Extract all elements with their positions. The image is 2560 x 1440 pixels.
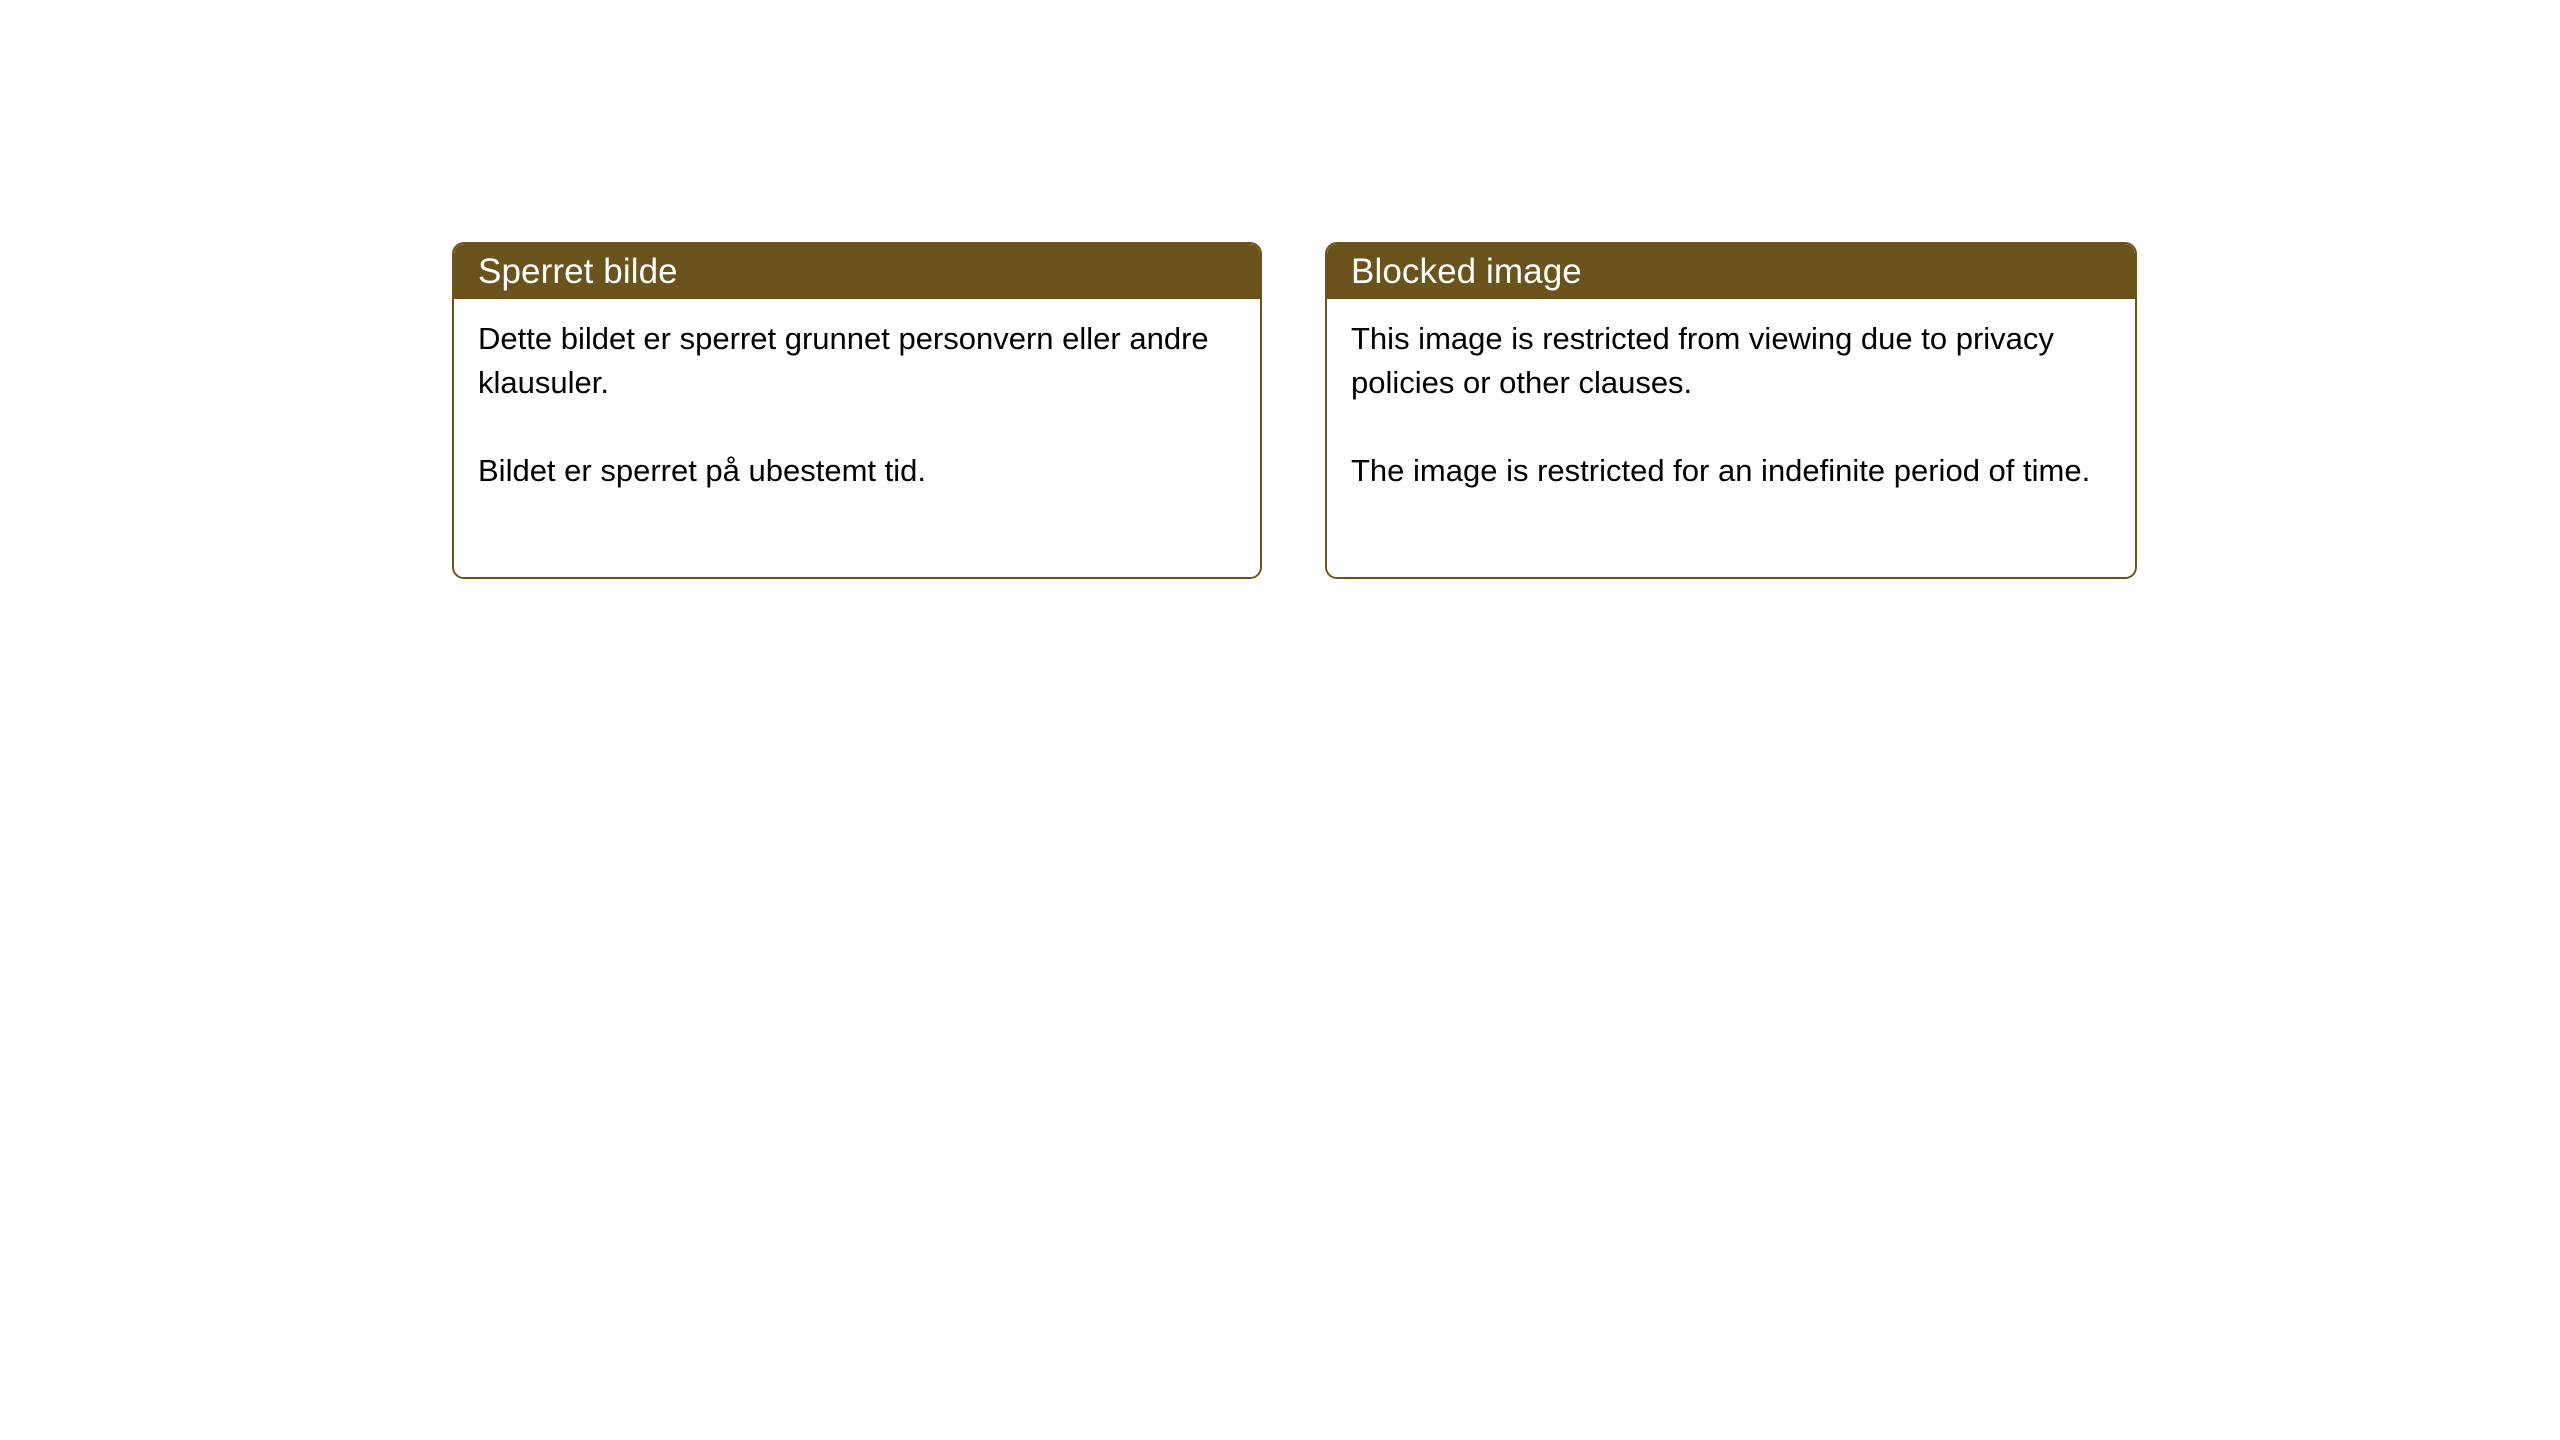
- card-body-no: Dette bildet er sperret grunnet personve…: [454, 299, 1260, 577]
- card-body-en: This image is restricted from viewing du…: [1327, 299, 2135, 577]
- card-title-no: Sperret bilde: [478, 252, 678, 292]
- card-title-en: Blocked image: [1351, 252, 1582, 292]
- blocked-image-notice-card-no: Sperret bilde Dette bildet er sperret gr…: [452, 242, 1262, 579]
- page-root: Sperret bilde Dette bildet er sperret gr…: [0, 0, 2560, 1440]
- paragraph-spacer-no: [478, 405, 1238, 449]
- card-paragraph-en-2: The image is restricted for an indefinit…: [1351, 449, 2113, 493]
- notice-cards-row: Sperret bilde Dette bildet er sperret gr…: [452, 242, 2137, 579]
- card-header-en: Blocked image: [1327, 244, 2135, 299]
- card-paragraph-no-1: Dette bildet er sperret grunnet personve…: [478, 317, 1238, 405]
- card-header-no: Sperret bilde: [454, 244, 1260, 299]
- blocked-image-notice-card-en: Blocked image This image is restricted f…: [1325, 242, 2137, 579]
- card-paragraph-en-1: This image is restricted from viewing du…: [1351, 317, 2113, 405]
- paragraph-spacer-en: [1351, 405, 2113, 449]
- card-paragraph-no-2: Bildet er sperret på ubestemt tid.: [478, 449, 1238, 493]
